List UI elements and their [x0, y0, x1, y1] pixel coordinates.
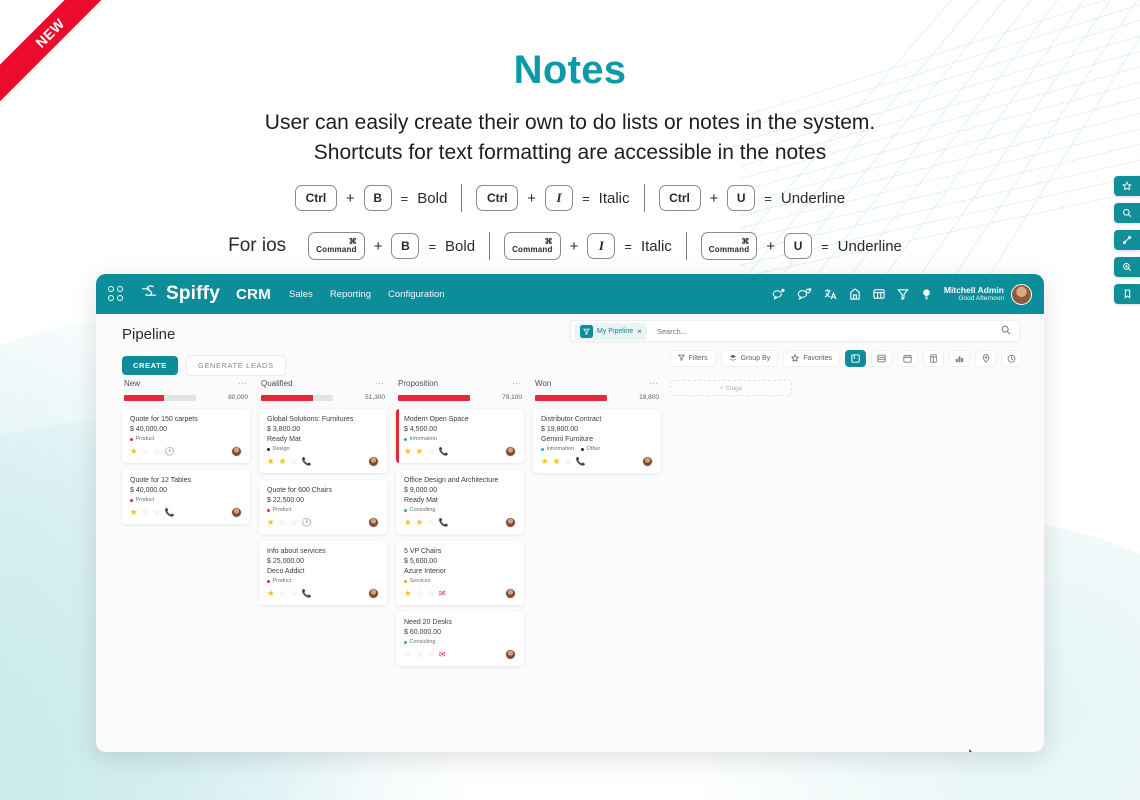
zoom-icon[interactable]: [1114, 257, 1140, 277]
avatar[interactable]: [231, 507, 242, 518]
star-icon[interactable]: ☆: [416, 650, 424, 659]
card-amount: $ 60,000.00: [404, 629, 516, 636]
star-icon[interactable]: ★: [416, 447, 424, 456]
list-view-icon[interactable]: [871, 350, 892, 367]
card-footer: ★ ★ ☆ 📞: [404, 517, 516, 528]
card-title: Quote for 150 carpets: [130, 416, 242, 423]
top-menu: Sales Reporting Configuration: [289, 289, 444, 300]
card-footer: ★ ★ ☆ 📞: [267, 456, 379, 467]
card-footer: ★ ☆ ☆ 📞: [130, 507, 242, 518]
filter-chip-label: My Pipeline: [597, 328, 633, 335]
shortcut-result-bold: Bold: [417, 190, 447, 207]
equals-sign: =: [582, 191, 590, 206]
star-icon[interactable]: ★: [279, 457, 287, 466]
card-footer: ★ ☆ ☆ ✉: [404, 588, 516, 599]
card-tag: Services: [404, 578, 431, 584]
search-icon[interactable]: [1001, 322, 1011, 340]
column-name: Won: [535, 379, 551, 388]
progress-bar: [261, 395, 333, 401]
card-partner: Gemini Furniture: [541, 436, 653, 443]
card-title: Quote for 600 Chairs: [267, 487, 379, 494]
card-tags: Product: [130, 436, 242, 442]
key-ctrl: Ctrl: [659, 185, 701, 211]
avatar[interactable]: [642, 456, 653, 467]
column-header: New ⋯: [122, 378, 250, 394]
star-icon[interactable]: ☆: [427, 518, 435, 527]
card-priority[interactable]: ★ ★ ☆ 📞: [541, 457, 586, 466]
filters-label: Filters: [689, 355, 708, 362]
star-icon[interactable]: ★: [130, 508, 138, 517]
star-icon[interactable]: ☆: [153, 508, 161, 517]
kanban-card[interactable]: Distributor Contract $ 19,800.00 Gemini …: [533, 409, 661, 473]
progress-bar: [398, 395, 470, 401]
mouse-cursor: [969, 748, 978, 752]
star-icon[interactable]: ☆: [279, 589, 287, 598]
expand-icon[interactable]: [1114, 230, 1140, 250]
card-tag: Product: [130, 436, 154, 442]
search-bar[interactable]: My Pipeline ×: [570, 320, 1020, 342]
column-meter: 19,800: [533, 394, 661, 409]
card-tag: Information: [404, 436, 437, 442]
star-icon[interactable]: ☆: [142, 447, 150, 456]
kanban-card[interactable]: Quote for 12 Tables $ 40,000.00 Product …: [122, 470, 250, 524]
kanban-card[interactable]: Office Design and Architecture $ 9,000.0…: [396, 470, 524, 534]
user-greeting: Good Afternoon: [944, 295, 1004, 303]
kanban-board: New ⋯ 80,000 Quote for 150 carpets $ 40,…: [122, 378, 1026, 744]
slide-root: NEW Notes User can easily create their o…: [0, 0, 1140, 800]
key-b: B: [391, 233, 419, 259]
star-icon[interactable]: ★: [404, 589, 412, 598]
new-ribbon: NEW: [0, 0, 118, 118]
grid-icon[interactable]: [873, 288, 885, 300]
translate-icon[interactable]: [824, 288, 837, 300]
star-icon[interactable]: ★: [541, 457, 549, 466]
column-header: Qualified ⋯: [259, 378, 387, 394]
map-view-icon[interactable]: [975, 350, 996, 367]
kanban-card[interactable]: Quote for 150 carpets $ 40,000.00 Produc…: [122, 409, 250, 463]
phone-icon[interactable]: 📞: [302, 590, 312, 598]
card-partner: Azure Interior: [404, 568, 516, 575]
card-footer: ★ ☆ ☆ 📞: [267, 588, 379, 599]
card-tag: Product: [267, 507, 291, 513]
card-amount: $ 5,600.00: [404, 558, 516, 565]
card-priority[interactable]: ★ ★ ☆ 📞: [267, 457, 312, 466]
column-total: 79,100: [502, 394, 522, 401]
star-icon[interactable]: ★: [553, 457, 561, 466]
avatar[interactable]: [505, 517, 516, 528]
column-header: Won ⋯: [533, 378, 661, 394]
star-icon[interactable]: ★: [267, 589, 275, 598]
shortcut-result-underline: Underline: [781, 190, 845, 207]
group-by-button[interactable]: Group By: [721, 350, 779, 367]
star-icon[interactable]: ☆: [416, 589, 424, 598]
card-title: 5 VP Chairs: [404, 548, 516, 555]
activities-icon[interactable]: [797, 288, 812, 300]
phone-icon[interactable]: 📞: [165, 509, 175, 517]
activity-view-icon[interactable]: [1001, 350, 1022, 367]
shortcut-underline-windows: Ctrl + U = Underline: [649, 185, 856, 211]
kanban-card[interactable]: 5 VP Chairs $ 5,600.00 Azure Interior Se…: [396, 541, 524, 605]
star-icon: [791, 354, 799, 364]
star-icon[interactable]: ★: [130, 447, 138, 456]
card-footer: ☆ ☆ ☆ ✉: [404, 649, 516, 660]
star-icon[interactable]: ☆: [427, 589, 435, 598]
avatar[interactable]: [505, 588, 516, 599]
user-name: Mitchell Admin: [944, 285, 1004, 296]
column-total: 19,800: [639, 394, 659, 401]
card-partner: Ready Mat: [404, 497, 516, 504]
card-tag: Information: [541, 446, 574, 452]
bookmark-icon[interactable]: [1114, 284, 1140, 304]
module-name[interactable]: CRM: [236, 286, 271, 303]
card-priority[interactable]: ★ ☆ ☆ 🕐: [130, 447, 175, 456]
card-tags: Information: [404, 436, 516, 442]
equals-sign: =: [764, 191, 772, 206]
card-priority[interactable]: ★ ☆ ☆ 📞: [130, 508, 175, 517]
shortcut-italic-windows: Ctrl + I = Italic: [466, 185, 639, 211]
shortcut-bold-ios: ⌘ Command + B = Bold: [298, 232, 485, 260]
card-tags: Product: [267, 578, 379, 584]
card-title: Office Design and Architecture: [404, 477, 516, 484]
card-priority[interactable]: ★ ☆ ☆ ✉: [404, 589, 446, 598]
star-icon[interactable]: ☆: [142, 508, 150, 517]
shortcut-result-italic: Italic: [599, 190, 630, 207]
key-command: ⌘ Command: [504, 232, 561, 260]
key-i: I: [545, 185, 573, 211]
card-title: Global Solutions: Furnitures: [267, 416, 379, 423]
funnel-icon: [678, 354, 685, 363]
avatar[interactable]: [231, 446, 242, 457]
filter-chip-my-pipeline[interactable]: My Pipeline ×: [575, 323, 647, 340]
messages-icon[interactable]: [772, 288, 785, 300]
kanban-card[interactable]: Need 20 Desks $ 60,000.00 Consulting ☆ ☆…: [396, 612, 524, 666]
plus-sign: +: [527, 190, 536, 207]
card-tags: Consulting: [404, 639, 516, 645]
kanban-column-new: New ⋯ 80,000 Quote for 150 carpets $ 40,…: [122, 378, 250, 744]
key-ctrl: Ctrl: [295, 185, 337, 211]
calendar-view-icon[interactable]: [897, 350, 918, 367]
star-icon[interactable]: ☆: [564, 457, 572, 466]
topbar-icons: [772, 288, 932, 300]
key-command: ⌘ Command: [701, 232, 758, 260]
star-icon[interactable]: ☆: [427, 650, 435, 659]
star-icon[interactable]: [1114, 176, 1140, 196]
column-total: 80,000: [228, 394, 248, 401]
card-tags: Consulting: [404, 507, 516, 513]
spiffy-mark-icon: [138, 281, 160, 308]
app-window: Spiffy CRM Sales Reporting Configuration: [96, 274, 1044, 752]
funnel-icon[interactable]: [897, 288, 909, 300]
card-amount: $ 40,000.00: [130, 426, 242, 433]
subtitle-line-1: User can easily create their own to do l…: [0, 108, 1140, 138]
card-tags: Product: [267, 507, 379, 513]
shortcut-divider: [461, 184, 462, 212]
card-title: Need 20 Desks: [404, 619, 516, 626]
column-meter: 79,100: [396, 394, 524, 409]
column-name: Qualified: [261, 379, 293, 388]
kanban-column-proposition: Proposition ⋯ 79,100 Modern Open Space $…: [396, 378, 524, 744]
floating-tool-rail: [1114, 176, 1140, 304]
mail-icon[interactable]: ✉: [439, 651, 446, 659]
apps-icon[interactable]: [849, 288, 861, 300]
add-stage-button[interactable]: + Stage: [670, 380, 792, 396]
menu-item-reporting[interactable]: Reporting: [330, 289, 371, 300]
phone-icon[interactable]: 📞: [576, 458, 586, 466]
key-b: B: [364, 185, 392, 211]
card-tag: Other: [581, 446, 600, 452]
card-priority[interactable]: ★ ★ ☆ 📞: [404, 447, 449, 456]
card-title: Distributor Contract: [541, 416, 653, 423]
key-u: U: [784, 233, 812, 259]
subtitle-line-2: Shortcuts for text formatting are access…: [0, 138, 1140, 168]
close-icon[interactable]: ×: [637, 327, 642, 336]
card-tag: Product: [130, 497, 154, 503]
star-icon[interactable]: ★: [404, 518, 412, 527]
user-menu[interactable]: Mitchell Admin Good Afternoon: [944, 284, 1032, 305]
clock-icon[interactable]: 🕐: [302, 519, 312, 527]
filters-button[interactable]: Filters: [670, 350, 716, 367]
column-name: New: [124, 379, 140, 388]
command-word: Command: [512, 246, 553, 254]
card-tags: Services: [404, 578, 516, 584]
menu-item-sales[interactable]: Sales: [289, 289, 313, 300]
card-footer: ★ ★ ☆ 📞: [404, 446, 516, 457]
avatar[interactable]: [368, 517, 379, 528]
shortcut-result-bold: Bold: [445, 238, 475, 255]
card-amount: $ 3,800.00: [267, 426, 379, 433]
plus-sign: +: [766, 238, 775, 255]
shortcut-divider: [489, 232, 490, 260]
card-tag: Consulting: [404, 507, 436, 513]
avatar[interactable]: [1011, 284, 1032, 305]
card-priority[interactable]: ★ ☆ ☆ 📞: [267, 589, 312, 598]
app-topbar: Spiffy CRM Sales Reporting Configuration: [96, 274, 1044, 314]
star-icon[interactable]: ★: [267, 518, 275, 527]
command-word: Command: [316, 246, 357, 254]
user-text: Mitchell Admin Good Afternoon: [944, 285, 1004, 304]
column-total: 51,300: [365, 394, 385, 401]
avatar[interactable]: [505, 446, 516, 457]
pivot-view-icon[interactable]: [923, 350, 944, 367]
page-subtitle: User can easily create their own to do l…: [0, 108, 1140, 168]
create-button[interactable]: CREATE: [122, 356, 178, 375]
star-icon[interactable]: ☆: [290, 518, 298, 527]
favorites-button[interactable]: Favorites: [783, 350, 840, 367]
search-icon[interactable]: [1114, 203, 1140, 223]
shortcut-divider: [644, 184, 645, 212]
star-icon[interactable]: ★: [416, 518, 424, 527]
equals-sign: =: [624, 239, 632, 254]
column-name: Proposition: [398, 379, 438, 388]
card-amount: $ 22,500.00: [267, 497, 379, 504]
kanban-view-icon[interactable]: [845, 350, 866, 367]
equals-sign: =: [821, 239, 829, 254]
card-priority[interactable]: ☆ ☆ ☆ ✉: [404, 650, 446, 659]
graph-view-icon[interactable]: [949, 350, 970, 367]
funnel-icon: [580, 325, 593, 338]
card-tag: Design: [267, 446, 290, 452]
key-ctrl: Ctrl: [476, 185, 518, 211]
kanban-column-won: Won ⋯ 19,800 Distributor Contract $ 19,8…: [533, 378, 661, 744]
kanban-card[interactable]: Quote for 600 Chairs $ 22,500.00 Product…: [259, 480, 387, 534]
new-ribbon-label: NEW: [0, 0, 118, 106]
card-partner: Deco Addict: [267, 568, 379, 575]
kanban-column-qualified: Qualified ⋯ 51,300 Global Solutions: Fur…: [259, 378, 387, 744]
view-toolbar: Filters Group By Favorites: [670, 350, 1022, 367]
clock-icon[interactable]: 🕐: [165, 448, 175, 456]
star-icon[interactable]: ☆: [404, 650, 412, 659]
column-menu-icon[interactable]: ⋯: [238, 378, 248, 389]
shortcut-bold-windows: Ctrl + B = Bold: [285, 185, 457, 211]
card-amount: $ 40,000.00: [130, 487, 242, 494]
card-tag: Consulting: [404, 639, 436, 645]
star-icon[interactable]: ★: [404, 447, 412, 456]
favorites-label: Favorites: [803, 355, 832, 362]
plus-sign: +: [346, 190, 355, 207]
card-title: Modern Open Space: [404, 416, 516, 423]
avatar[interactable]: [368, 456, 379, 467]
card-priority[interactable]: ★ ☆ ☆ 🕐: [267, 518, 312, 527]
equals-sign: =: [401, 191, 409, 206]
menu-item-configuration[interactable]: Configuration: [388, 289, 445, 300]
apps-grid-icon[interactable]: [108, 286, 124, 302]
plus-sign: +: [710, 190, 719, 207]
plus-sign: +: [374, 238, 383, 255]
star-icon[interactable]: ☆: [290, 457, 298, 466]
card-tag: Product: [267, 578, 291, 584]
column-menu-icon[interactable]: ⋯: [375, 378, 385, 389]
column-menu-icon[interactable]: ⋯: [649, 378, 659, 389]
group-by-label: Group By: [741, 355, 771, 362]
key-u: U: [727, 185, 755, 211]
card-partner: Ready Mat: [267, 436, 379, 443]
ios-label: For ios: [228, 235, 286, 257]
equals-sign: =: [428, 239, 436, 254]
shortcut-underline-ios: ⌘ Command + U = Underline: [691, 232, 912, 260]
column-meter: 80,000: [122, 394, 250, 409]
progress-bar: [124, 395, 196, 401]
card-title: Quote for 12 Tables: [130, 477, 242, 484]
topbar-right: Mitchell Admin Good Afternoon: [772, 284, 1032, 305]
phone-icon[interactable]: 📞: [439, 448, 449, 456]
star-icon[interactable]: ☆: [153, 447, 161, 456]
card-amount: $ 19,800.00: [541, 426, 653, 433]
page-title: Notes: [0, 48, 1140, 93]
card-amount: $ 25,000.00: [267, 558, 379, 565]
lightbulb-icon[interactable]: [921, 288, 932, 300]
brand-logo[interactable]: Spiffy: [138, 281, 220, 308]
shortcut-result-italic: Italic: [641, 238, 672, 255]
card-footer: ★ ★ ☆ 📞: [541, 456, 653, 467]
key-i: I: [587, 233, 615, 259]
mail-icon[interactable]: ✉: [439, 590, 446, 598]
avatar[interactable]: [505, 649, 516, 660]
card-footer: ★ ☆ ☆ 🕐: [267, 517, 379, 528]
shortcut-row-windows: Ctrl + B = Bold Ctrl + I = Italic Ctrl +…: [0, 184, 1140, 212]
plus-sign: +: [570, 238, 579, 255]
phone-icon[interactable]: 📞: [439, 519, 449, 527]
star-icon[interactable]: ★: [267, 457, 275, 466]
kanban-card[interactable]: Info about services $ 25,000.00 Deco Add…: [259, 541, 387, 605]
card-tags: Design: [267, 446, 379, 452]
search-input[interactable]: [647, 327, 1001, 336]
card-priority[interactable]: ★ ★ ☆ 📞: [404, 518, 449, 527]
column-header: Proposition ⋯: [396, 378, 524, 394]
card-tags: Product: [130, 497, 242, 503]
brand-name: Spiffy: [166, 283, 220, 305]
card-amount: $ 9,000.00: [404, 487, 516, 494]
shortcut-row-ios: For ios ⌘ Command + B = Bold ⌘ Command +…: [0, 232, 1140, 260]
star-icon[interactable]: ☆: [427, 447, 435, 456]
shortcut-italic-ios: ⌘ Command + I = Italic: [494, 232, 682, 260]
card-tags: Information Other: [541, 446, 653, 452]
column-menu-icon[interactable]: ⋯: [512, 378, 522, 389]
card-amount: $ 4,500.00: [404, 426, 516, 433]
layers-icon: [729, 354, 737, 364]
command-word: Command: [709, 246, 750, 254]
kanban-card[interactable]: Modern Open Space $ 4,500.00 Information…: [396, 409, 524, 463]
card-title: Info about services: [267, 548, 379, 555]
phone-icon[interactable]: 📞: [302, 458, 312, 466]
key-command: ⌘ Command: [308, 232, 365, 260]
star-icon[interactable]: ☆: [279, 518, 287, 527]
progress-bar: [535, 395, 607, 401]
shortcut-result-underline: Underline: [838, 238, 902, 255]
card-footer: ★ ☆ ☆ 🕐: [130, 446, 242, 457]
kanban-card[interactable]: Global Solutions: Furnitures $ 3,800.00 …: [259, 409, 387, 473]
shortcut-divider: [686, 232, 687, 260]
avatar[interactable]: [368, 588, 379, 599]
column-meter: 51,300: [259, 394, 387, 409]
generate-leads-button[interactable]: GENERATE LEADS: [186, 355, 286, 376]
star-icon[interactable]: ☆: [290, 589, 298, 598]
